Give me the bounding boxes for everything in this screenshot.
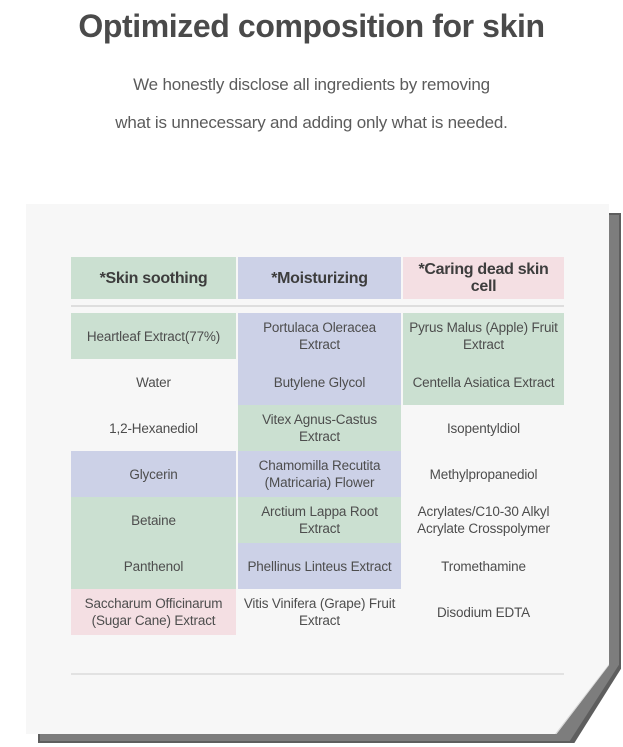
ingredient-cell: Chamomilla Recutita (Matricaria) Flower bbox=[238, 451, 401, 497]
ingredient-cell: Arctium Lappa Root Extract bbox=[238, 497, 401, 543]
ingredient-cell: Disodium EDTA bbox=[403, 589, 564, 635]
ingredient-cell: Vitis Vinifera (Grape) Fruit Extract bbox=[238, 589, 401, 635]
page-subtitle-line-2: what is unnecessary and adding only what… bbox=[0, 104, 623, 142]
page-title: Optimized composition for skin bbox=[0, 6, 623, 46]
ingredient-cell: Vitex Agnus-Castus Extract bbox=[238, 405, 401, 451]
ingredient-cell: Heartleaf Extract(77%) bbox=[71, 313, 236, 359]
table-row: Betaine Arctium Lappa Root Extract Acryl… bbox=[71, 497, 564, 543]
ingredient-cell: Butylene Glycol bbox=[238, 359, 401, 405]
ingredient-cell: Portulaca Oleracea Extract bbox=[238, 313, 401, 359]
page-subtitle-line-1: We honestly disclose all ingredients by … bbox=[0, 66, 623, 104]
ingredient-cell: Panthenol bbox=[71, 543, 236, 589]
table-header-row: *Skin soothing *Moisturizing *Caring dea… bbox=[71, 257, 564, 299]
table-row: 1,2-Hexanediol Vitex Agnus-Castus Extrac… bbox=[71, 405, 564, 451]
ingredient-cell: Methylpropanediol bbox=[403, 451, 564, 497]
page-subtitle: We honestly disclose all ingredients by … bbox=[0, 66, 623, 142]
table-row: Glycerin Chamomilla Recutita (Matricaria… bbox=[71, 451, 564, 497]
ingredient-cell: 1,2-Hexanediol bbox=[71, 405, 236, 451]
table-bottom-divider bbox=[71, 673, 564, 675]
table-row: Panthenol Phellinus Linteus Extract Trom… bbox=[71, 543, 564, 589]
ingredient-table: *Skin soothing *Moisturizing *Caring dea… bbox=[71, 257, 564, 675]
table-row: Heartleaf Extract(77%) Portulaca Olerace… bbox=[71, 313, 564, 359]
ingredient-cell: Betaine bbox=[71, 497, 236, 543]
ingredient-cell: Isopentyldiol bbox=[403, 405, 564, 451]
ingredient-cell: Centella Asiatica Extract bbox=[403, 359, 564, 405]
ingredient-cell: Pyrus Malus (Apple) Fruit Extract bbox=[403, 313, 564, 359]
column-header-moisturizing: *Moisturizing bbox=[238, 257, 401, 299]
ingredient-cell: Acrylates/C10-30 Alkyl Acrylate Crosspol… bbox=[403, 497, 564, 543]
table-row: Saccharum Officinarum (Sugar Cane) Extra… bbox=[71, 589, 564, 635]
ingredient-cell: Phellinus Linteus Extract bbox=[238, 543, 401, 589]
ingredient-card-area: *Skin soothing *Moisturizing *Caring dea… bbox=[26, 204, 609, 704]
header-divider bbox=[71, 305, 564, 307]
ingredient-cell: Glycerin bbox=[71, 451, 236, 497]
column-header-skin-soothing: *Skin soothing bbox=[71, 257, 236, 299]
table-row: Water Butylene Glycol Centella Asiatica … bbox=[71, 359, 564, 405]
ingredient-card: *Skin soothing *Moisturizing *Caring dea… bbox=[26, 204, 609, 734]
ingredient-cell: Water bbox=[71, 359, 236, 405]
ingredient-cell: Tromethamine bbox=[403, 543, 564, 589]
column-header-caring-dead-skin-cell: *Caring dead skin cell bbox=[403, 257, 564, 299]
ingredient-cell: Saccharum Officinarum (Sugar Cane) Extra… bbox=[71, 589, 236, 635]
